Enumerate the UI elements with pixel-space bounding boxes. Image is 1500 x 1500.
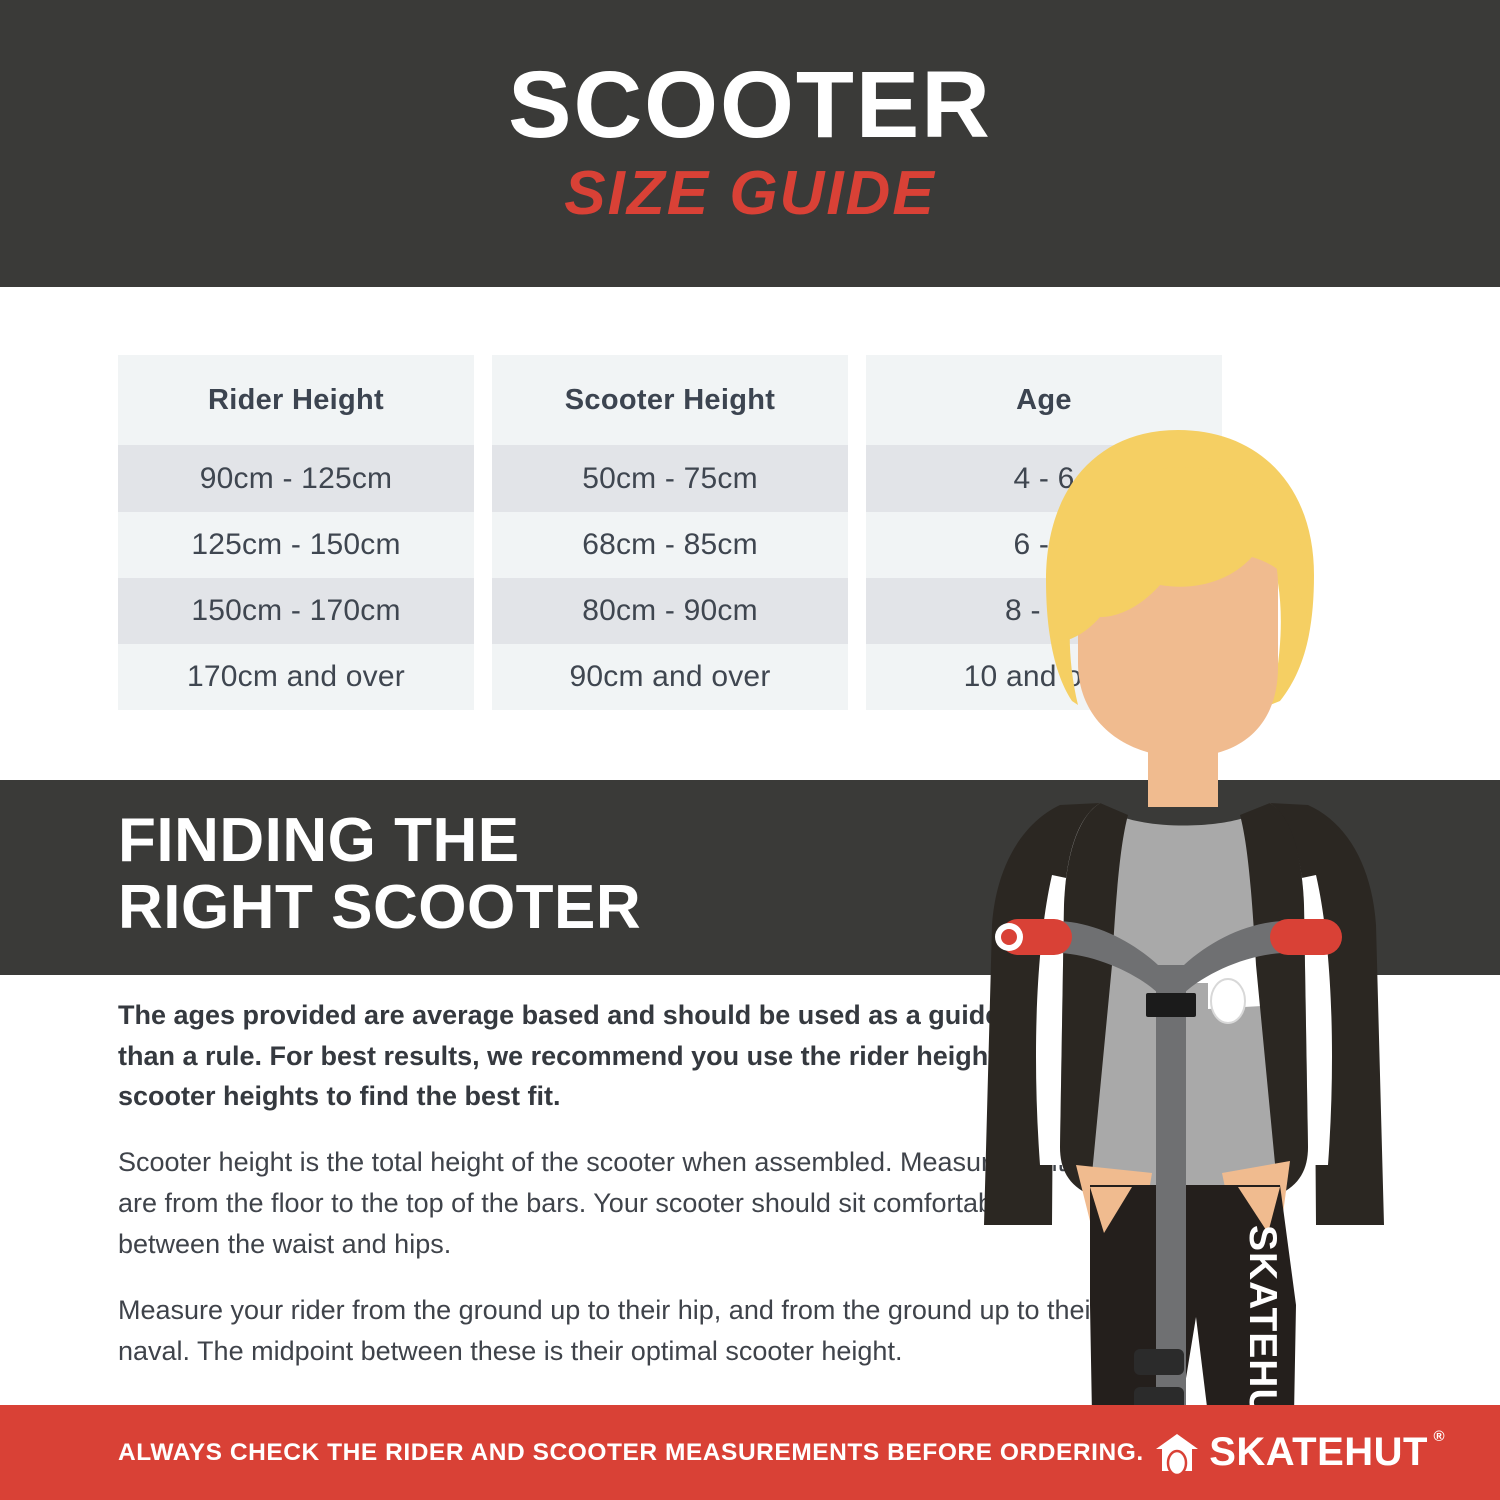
table-cell: 68cm - 85cm — [492, 512, 848, 578]
steerer-tube — [1156, 965, 1186, 1405]
section-heading: FINDING THE RIGHT SCOOTER — [118, 808, 641, 942]
column-header: Age — [866, 355, 1222, 445]
table-cell: 150cm - 170cm — [118, 578, 474, 644]
shorts-brand-text: SKATEHUT — [1241, 1225, 1284, 1405]
table-cell: 90cm - 125cm — [118, 445, 474, 511]
body-text-area: The ages provided are average based and … — [118, 995, 1118, 1397]
table-column-scooter-height: Scooter Height 50cm - 75cm 68cm - 85cm 8… — [492, 355, 848, 710]
table-cell: 90cm and over — [492, 644, 848, 710]
table-cell: 125cm - 150cm — [118, 512, 474, 578]
logo-wordmark: SKATEHUT ® — [1209, 1430, 1428, 1475]
table-cell: 50cm - 75cm — [492, 445, 848, 511]
bar-clamp — [1146, 993, 1196, 1017]
table-column-age: Age 4 - 6 6 - 8 8 - 12 10 and over — [866, 355, 1222, 710]
table-cell: 80cm - 90cm — [492, 578, 848, 644]
column-header: Scooter Height — [492, 355, 848, 445]
footer-band: ALWAYS CHECK THE RIDER AND SCOOTER MEASU… — [0, 1405, 1500, 1500]
hut-icon — [1154, 1430, 1200, 1476]
brake-band-1 — [1134, 1349, 1184, 1375]
skatehut-logo: SKATEHUT ® — [1154, 1430, 1428, 1476]
brake-band-2 — [1134, 1387, 1184, 1405]
table-cell: 4 - 6 — [866, 445, 1222, 511]
page-subtitle: SIZE GUIDE — [564, 160, 935, 228]
paragraph-two: Scooter height is the total height of th… — [118, 1142, 1118, 1265]
table-cell: 6 - 8 — [866, 512, 1222, 578]
shorts — [1090, 1185, 1296, 1405]
table-cell: 10 and over — [866, 644, 1222, 710]
shorts-pocket-right — [1238, 1187, 1280, 1233]
logo-text: SKATEHUT — [1209, 1430, 1428, 1474]
column-header: Rider Height — [118, 355, 474, 445]
paragraph-bold: The ages provided are average based and … — [118, 995, 1118, 1117]
right-hand — [1222, 1161, 1290, 1221]
table-cell: 8 - 12 — [866, 578, 1222, 644]
registered-mark: ® — [1433, 1428, 1445, 1445]
size-guide-table: Rider Height 90cm - 125cm 125cm - 150cm … — [118, 355, 1228, 710]
footer-notice: ALWAYS CHECK THE RIDER AND SCOOTER MEASU… — [118, 1439, 1144, 1467]
table-cell: 170cm and over — [118, 644, 474, 710]
page-title: SCOOTER — [508, 59, 992, 152]
header-band: SCOOTER SIZE GUIDE — [0, 0, 1500, 287]
table-column-rider-height: Rider Height 90cm - 125cm 125cm - 150cm … — [118, 355, 474, 710]
paragraph-three: Measure your rider from the ground up to… — [118, 1290, 1118, 1372]
